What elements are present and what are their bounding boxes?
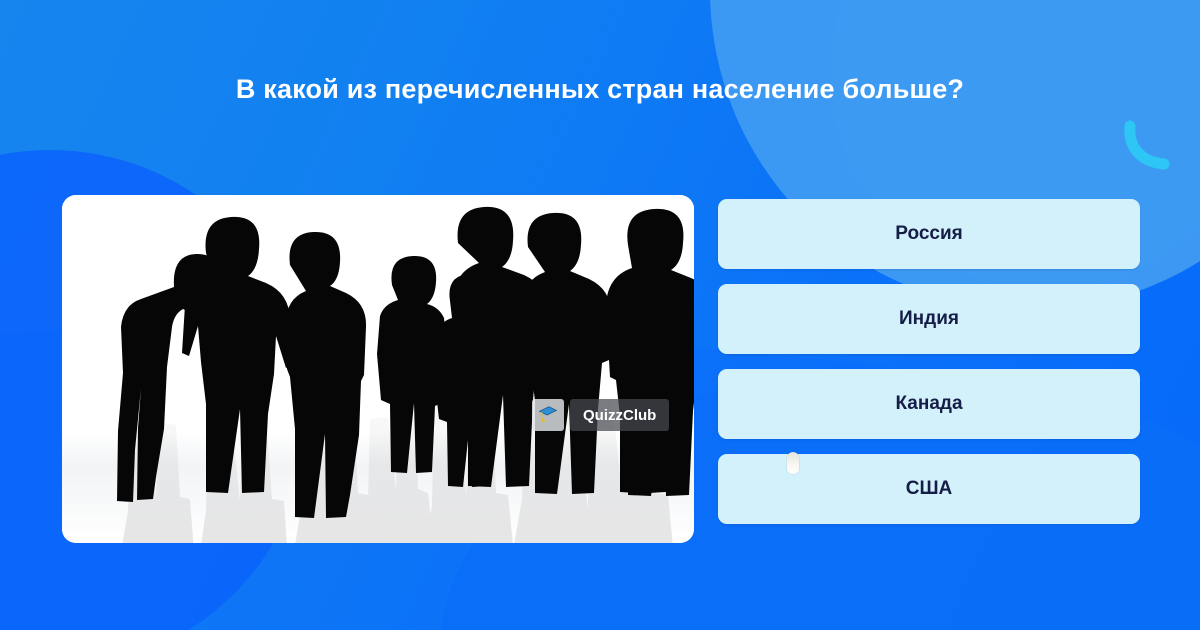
answer-option-2-label: Индия bbox=[899, 308, 959, 330]
answer-option-3[interactable]: Канада bbox=[718, 369, 1140, 439]
watermark-label: QuizzClub bbox=[570, 399, 669, 431]
answer-options-list: Россия Индия Канада США bbox=[718, 199, 1140, 524]
question-image-card: QuizzClub bbox=[62, 195, 694, 543]
crowd-silhouette-photo bbox=[62, 195, 694, 543]
answer-option-3-label: Канада bbox=[895, 393, 962, 415]
graduation-cap-icon bbox=[532, 399, 564, 431]
answer-option-1[interactable]: Россия bbox=[718, 199, 1140, 269]
question-title: В какой из перечисленных стран население… bbox=[0, 74, 1200, 105]
answer-option-2[interactable]: Индия bbox=[718, 284, 1140, 354]
crowd-silhouettes bbox=[62, 195, 694, 543]
swoosh-arc-icon bbox=[1122, 120, 1174, 172]
drag-handle[interactable] bbox=[787, 452, 799, 474]
answer-option-4[interactable]: США bbox=[718, 454, 1140, 524]
answer-option-1-label: Россия bbox=[895, 223, 962, 245]
answer-option-4-label: США bbox=[906, 478, 953, 500]
quizzclub-watermark: QuizzClub bbox=[532, 399, 669, 431]
